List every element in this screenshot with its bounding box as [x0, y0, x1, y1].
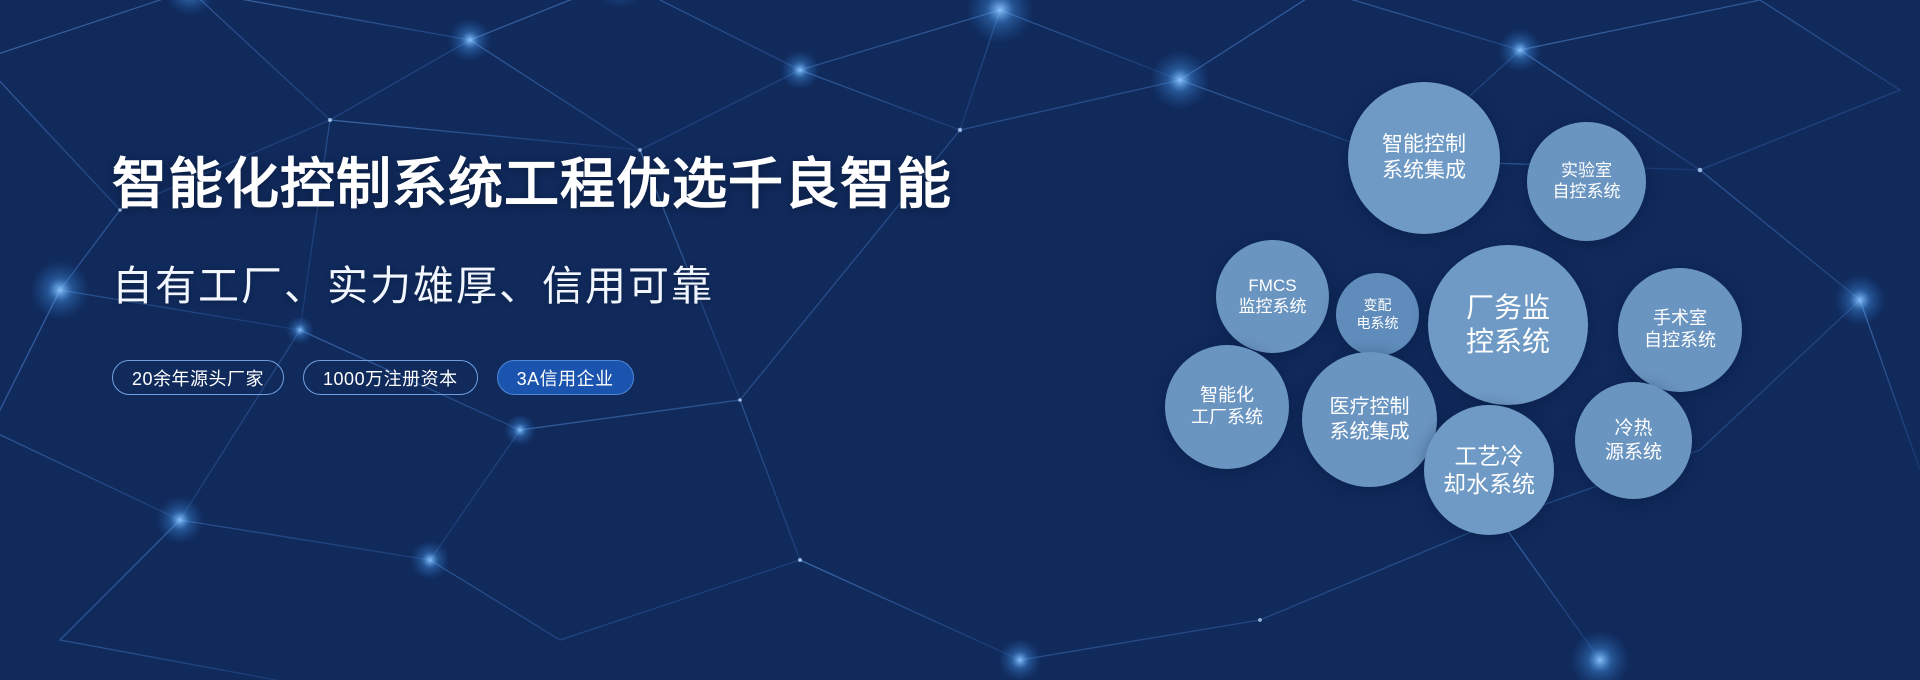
bubble-laboratory-automation[interactable]: 实验室 自控系统 — [1527, 122, 1646, 241]
bubble-line: 控系统 — [1466, 325, 1550, 359]
bubble-line: 系统集成 — [1330, 420, 1410, 444]
bubble-line: 却水系统 — [1443, 470, 1535, 498]
bubble-line: 手术室 — [1653, 308, 1707, 330]
bubble-operating-room-automation[interactable]: 手术室 自控系统 — [1618, 268, 1742, 392]
badge-capital[interactable]: 1000万注册资本 — [303, 360, 478, 395]
bubble-line: 冷热 — [1614, 417, 1652, 440]
bubble-line: 医疗控制 — [1330, 395, 1410, 419]
bubble-power-distribution[interactable]: 变配 电系统 — [1336, 273, 1419, 356]
hero-banner: 智能化控制系统工程优选千良智能 自有工厂、实力雄厚、信用可靠 20余年源头厂家 … — [0, 0, 1920, 680]
bubble-line: 监控系统 — [1239, 297, 1307, 318]
bubble-line: 电系统 — [1357, 315, 1399, 332]
bubble-line: 工厂系统 — [1191, 407, 1263, 429]
bubble-fmcs-monitoring[interactable]: FMCS 监控系统 — [1216, 240, 1329, 353]
bubble-line: 厂务监 — [1466, 291, 1550, 325]
bubble-plant-monitoring[interactable]: 厂务监 控系统 — [1428, 245, 1588, 405]
bubble-line: 自控系统 — [1644, 330, 1716, 352]
bubble-line: FMCS — [1248, 276, 1296, 297]
bubble-line: 实验室 — [1561, 161, 1612, 182]
badge-row: 20余年源头厂家 1000万注册资本 3A信用企业 — [112, 360, 942, 395]
bubble-cooling-heating-source[interactable]: 冷热 源系统 — [1575, 382, 1692, 499]
bubble-process-cooling-water[interactable]: 工艺冷 却水系统 — [1424, 405, 1554, 535]
page-title: 智能化控制系统工程优选千良智能 — [112, 152, 942, 217]
badge-credit-rating[interactable]: 3A信用企业 — [497, 360, 634, 395]
bubble-medical-control-integration[interactable]: 医疗控制 系统集成 — [1302, 352, 1437, 487]
page-subtitle: 自有工厂、实力雄厚、信用可靠 — [112, 261, 942, 312]
bubble-line: 变配 — [1364, 297, 1392, 314]
bubble-line: 系统集成 — [1382, 158, 1466, 184]
bubble-intelligent-control-integration[interactable]: 智能控制 系统集成 — [1348, 82, 1500, 234]
bubble-line: 智能控制 — [1382, 132, 1466, 158]
hero-text-block: 智能化控制系统工程优选千良智能 自有工厂、实力雄厚、信用可靠 20余年源头厂家 … — [112, 152, 942, 395]
bubble-line: 自控系统 — [1553, 182, 1621, 203]
bubble-line: 源系统 — [1605, 441, 1662, 464]
bubble-line: 工艺冷 — [1455, 442, 1524, 470]
badge-years[interactable]: 20余年源头厂家 — [112, 360, 284, 395]
bubble-smart-factory[interactable]: 智能化 工厂系统 — [1165, 345, 1289, 469]
bubble-line: 智能化 — [1200, 385, 1254, 407]
